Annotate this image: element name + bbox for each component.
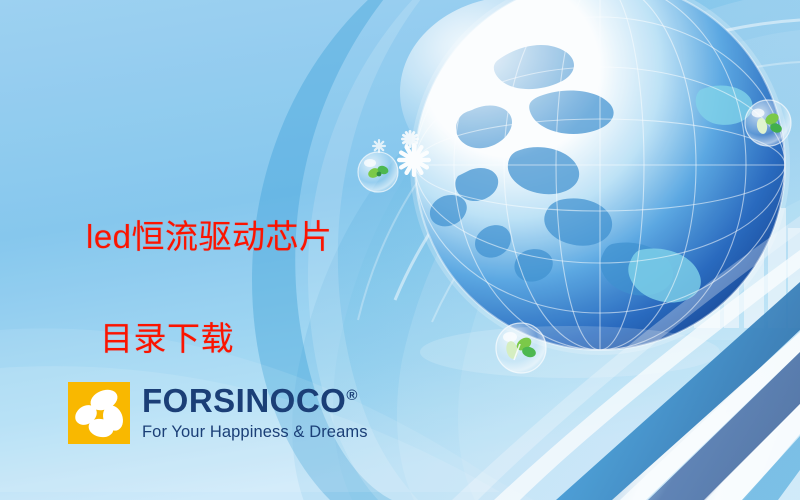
brand-tagline: For Your Happiness & Dreams (142, 424, 368, 441)
brand-wordmark: FORSINOCO (142, 382, 346, 419)
poster-canvas: led恒流驱动芯片 目录下载 FORSINOCO® For Your Happi… (0, 0, 800, 500)
headline-line-2: 目录下载 (86, 313, 416, 364)
registered-trademark-icon: ® (346, 387, 357, 404)
forsinoco-pinwheel-mark (68, 382, 130, 444)
logo-text-block: FORSINOCO® For Your Happiness & Dreams (142, 382, 368, 441)
headline-line-1: led恒流驱动芯片 (86, 211, 416, 262)
headline-text: led恒流驱动芯片 目录下载 (86, 160, 416, 416)
brand-name: FORSINOCO® (142, 384, 368, 417)
brand-logo: FORSINOCO® For Your Happiness & Dreams (68, 382, 368, 444)
